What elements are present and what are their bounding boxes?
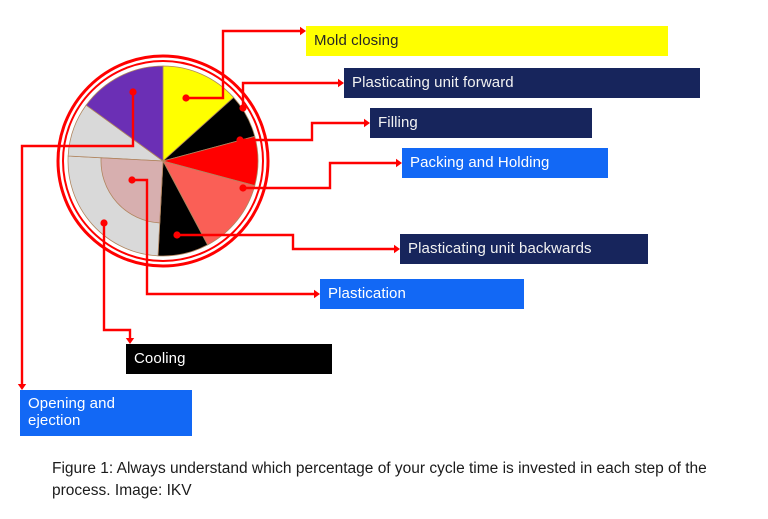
figure-caption: Figure 1: Always understand which percen…	[52, 458, 712, 503]
leader-dot-plasticating-unit-backwards	[173, 231, 180, 238]
label-opening-and-ejection[interactable]: Opening and ejection	[20, 390, 192, 436]
label-packing-and-holding[interactable]: Packing and Holding	[402, 148, 608, 178]
label-text: Cooling	[134, 351, 186, 368]
leader-dot-plasticating-unit-forward	[239, 104, 246, 111]
label-text: Opening and ejection	[28, 396, 115, 430]
label-mold-closing[interactable]: Mold closing	[306, 26, 668, 56]
label-text: Packing and Holding	[410, 155, 550, 172]
leader-dot-opening-and-ejection	[129, 88, 136, 95]
leader-dot-filling	[236, 136, 243, 143]
leader-dot-cooling	[100, 219, 107, 226]
leader-line-plasticating-unit-forward	[243, 83, 341, 108]
leader-dot-plastication	[128, 176, 135, 183]
label-filling[interactable]: Filling	[370, 108, 592, 138]
leader-dot-mold-closing	[182, 94, 189, 101]
label-text: Mold closing	[314, 33, 399, 50]
label-text: Filling	[378, 115, 418, 132]
label-plasticating-unit-backwards[interactable]: Plasticating unit backwards	[400, 234, 648, 264]
figure-container: Mold closing Plasticating unit forward F…	[0, 0, 768, 519]
label-text: Plasticating unit backwards	[408, 241, 592, 258]
label-text: Plasticating unit forward	[352, 75, 514, 92]
label-plasticating-unit-forward[interactable]: Plasticating unit forward	[344, 68, 700, 98]
label-text: Plastication	[328, 286, 406, 303]
label-cooling[interactable]: Cooling	[126, 344, 332, 374]
label-plastication[interactable]: Plastication	[320, 279, 524, 309]
leader-dot-packing-and-holding	[239, 184, 246, 191]
